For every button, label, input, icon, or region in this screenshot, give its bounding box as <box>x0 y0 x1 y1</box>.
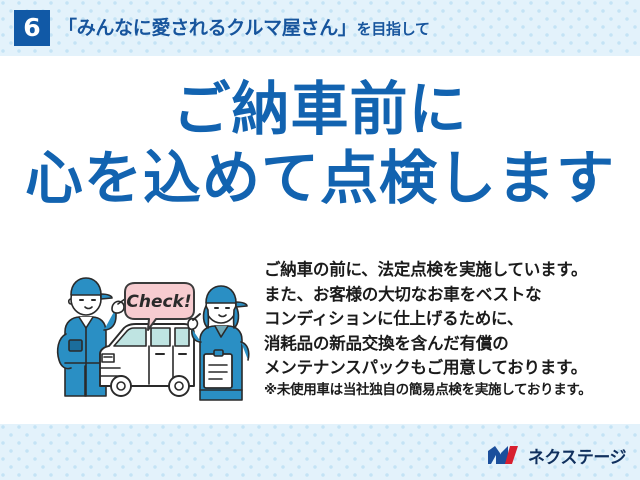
body-line: 消耗品の新品交換を含んだ有償の <box>264 332 626 357</box>
body-line: コンディションに仕上げるために、 <box>264 307 626 332</box>
body-note: ※未使用車は当社独自の簡易点検を実施しております。 <box>264 378 636 398</box>
mechanics-illustration: Check! <box>52 268 262 404</box>
headline-line-2: 心を込めて点検します <box>0 147 640 210</box>
mechanic-female-figure <box>188 286 249 400</box>
body-line: また、お客様の大切なお車をベストな <box>264 283 626 308</box>
nextage-logo-text: ネクステージ <box>528 443 626 468</box>
nextage-logo: ネクステージ <box>487 441 626 469</box>
check-bubble-label: Check! <box>126 292 191 312</box>
headline-line-1: ご納車前に <box>0 78 640 141</box>
body-line: ご納車の前に、法定点検を実施しています。 <box>264 258 626 283</box>
header-title-main: 「みんなに愛されるクルマ屋さん」 <box>58 17 357 39</box>
headline: ご納車前に 心を込めて点検します <box>0 78 640 209</box>
body-line: メンテナンスパックもご用意しております。 <box>264 356 626 381</box>
advertisement-page: 6 「みんなに愛されるクルマ屋さん」を目指して ご納車前に 心を込めて点検します… <box>0 0 640 480</box>
header-badge-number: 6 <box>14 10 50 46</box>
nextage-n-mark-icon <box>487 444 521 466</box>
header-title-suffix: を目指して <box>357 20 430 38</box>
van-illustration <box>100 324 194 396</box>
header-title: 「みんなに愛されるクルマ屋さん」を目指して <box>58 13 430 40</box>
body-copy: ご納車の前に、法定点検を実施しています。 また、お客様の大切なお車をベストな コ… <box>264 258 626 381</box>
